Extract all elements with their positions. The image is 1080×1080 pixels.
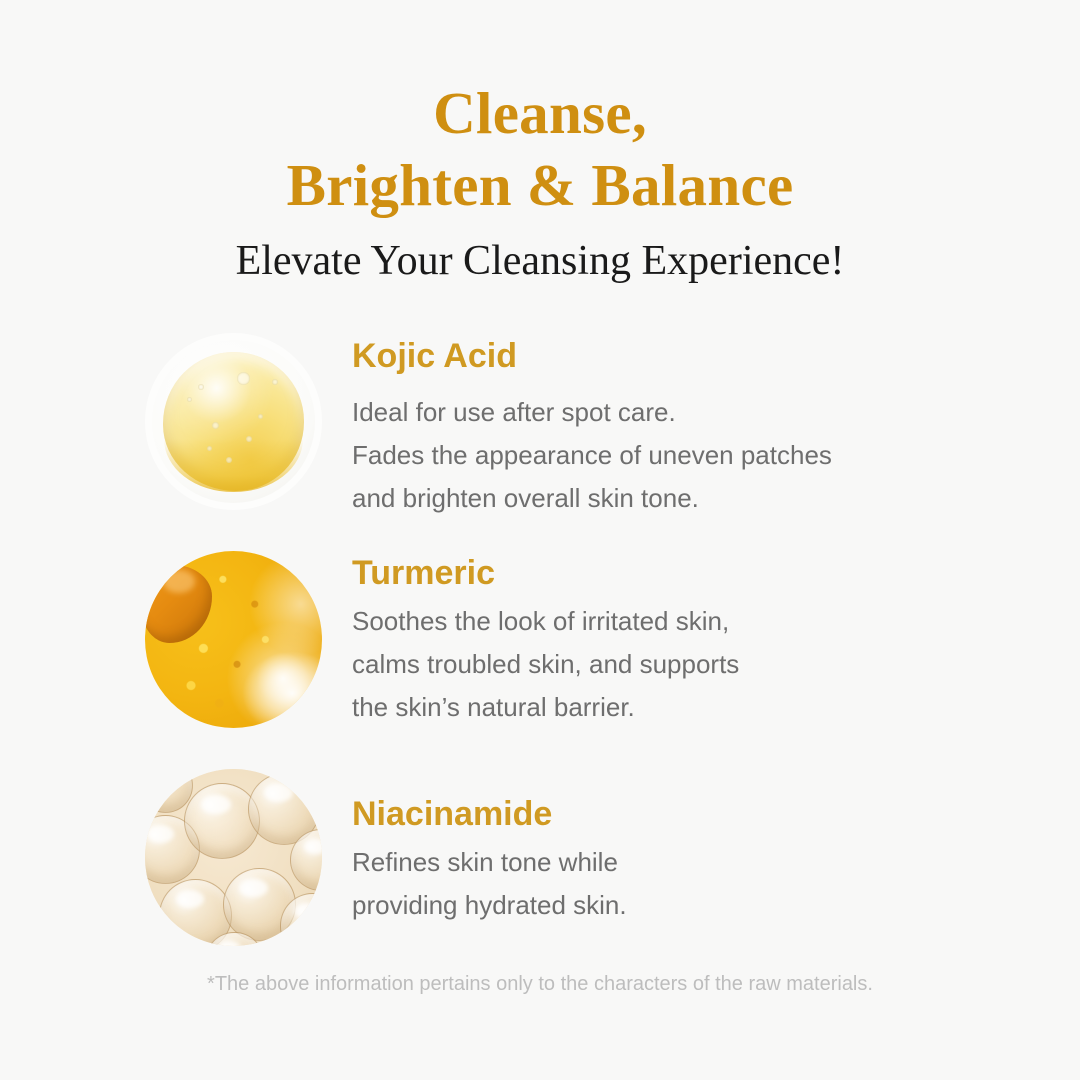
product-benefits-infographic: Cleanse, Brighten & Balance Elevate Your… (0, 0, 1080, 1080)
header: Cleanse, Brighten & Balance Elevate Your… (0, 78, 1080, 286)
title-line-1: Cleanse, (0, 78, 1080, 150)
description-line: providing hydrated skin. (352, 884, 952, 927)
turmeric-powder-icon (145, 551, 322, 728)
description-line: calms troubled skin, and supports (352, 643, 952, 686)
ingredient-list: Kojic Acid Ideal for use after spot care… (145, 333, 945, 987)
description-line: Ideal for use after spot care. (352, 391, 952, 434)
description-line: Soothes the look of irritated skin, (352, 600, 952, 643)
description-line: and brighten overall skin tone. (352, 477, 952, 520)
ingredient-item-kojic-acid: Kojic Acid Ideal for use after spot care… (145, 333, 945, 551)
ingredient-copy: Niacinamide Refines skin tone while prov… (352, 797, 952, 927)
footnote-disclaimer: *The above information pertains only to … (0, 973, 1080, 996)
ingredient-image-niacinamide (145, 769, 322, 946)
ingredient-copy: Kojic Acid Ideal for use after spot care… (352, 339, 952, 520)
kojic-acid-serum-drop-icon (145, 333, 322, 510)
description-line: the skin’s natural barrier. (352, 686, 952, 729)
title-line-2: Brighten & Balance (0, 150, 1080, 222)
ingredient-image-kojic-acid (145, 333, 322, 510)
ingredient-name: Kojic Acid (352, 339, 952, 373)
page-title: Cleanse, Brighten & Balance (0, 78, 1080, 222)
description-line: Fades the appearance of uneven patches (352, 434, 952, 477)
description-line: Refines skin tone while (352, 841, 952, 884)
ingredient-name: Niacinamide (352, 797, 952, 831)
ingredient-description: Ideal for use after spot care. Fades the… (352, 391, 952, 520)
ingredient-item-niacinamide: Niacinamide Refines skin tone while prov… (145, 769, 945, 987)
niacinamide-capsules-icon (145, 769, 322, 946)
ingredient-copy: Turmeric Soothes the look of irritated s… (352, 556, 952, 729)
ingredient-item-turmeric: Turmeric Soothes the look of irritated s… (145, 551, 945, 769)
ingredient-description: Refines skin tone while providing hydrat… (352, 841, 952, 927)
page-subtitle: Elevate Your Cleansing Experience! (0, 236, 1080, 286)
ingredient-image-turmeric (145, 551, 322, 728)
ingredient-description: Soothes the look of irritated skin, calm… (352, 600, 952, 729)
ingredient-name: Turmeric (352, 556, 952, 590)
